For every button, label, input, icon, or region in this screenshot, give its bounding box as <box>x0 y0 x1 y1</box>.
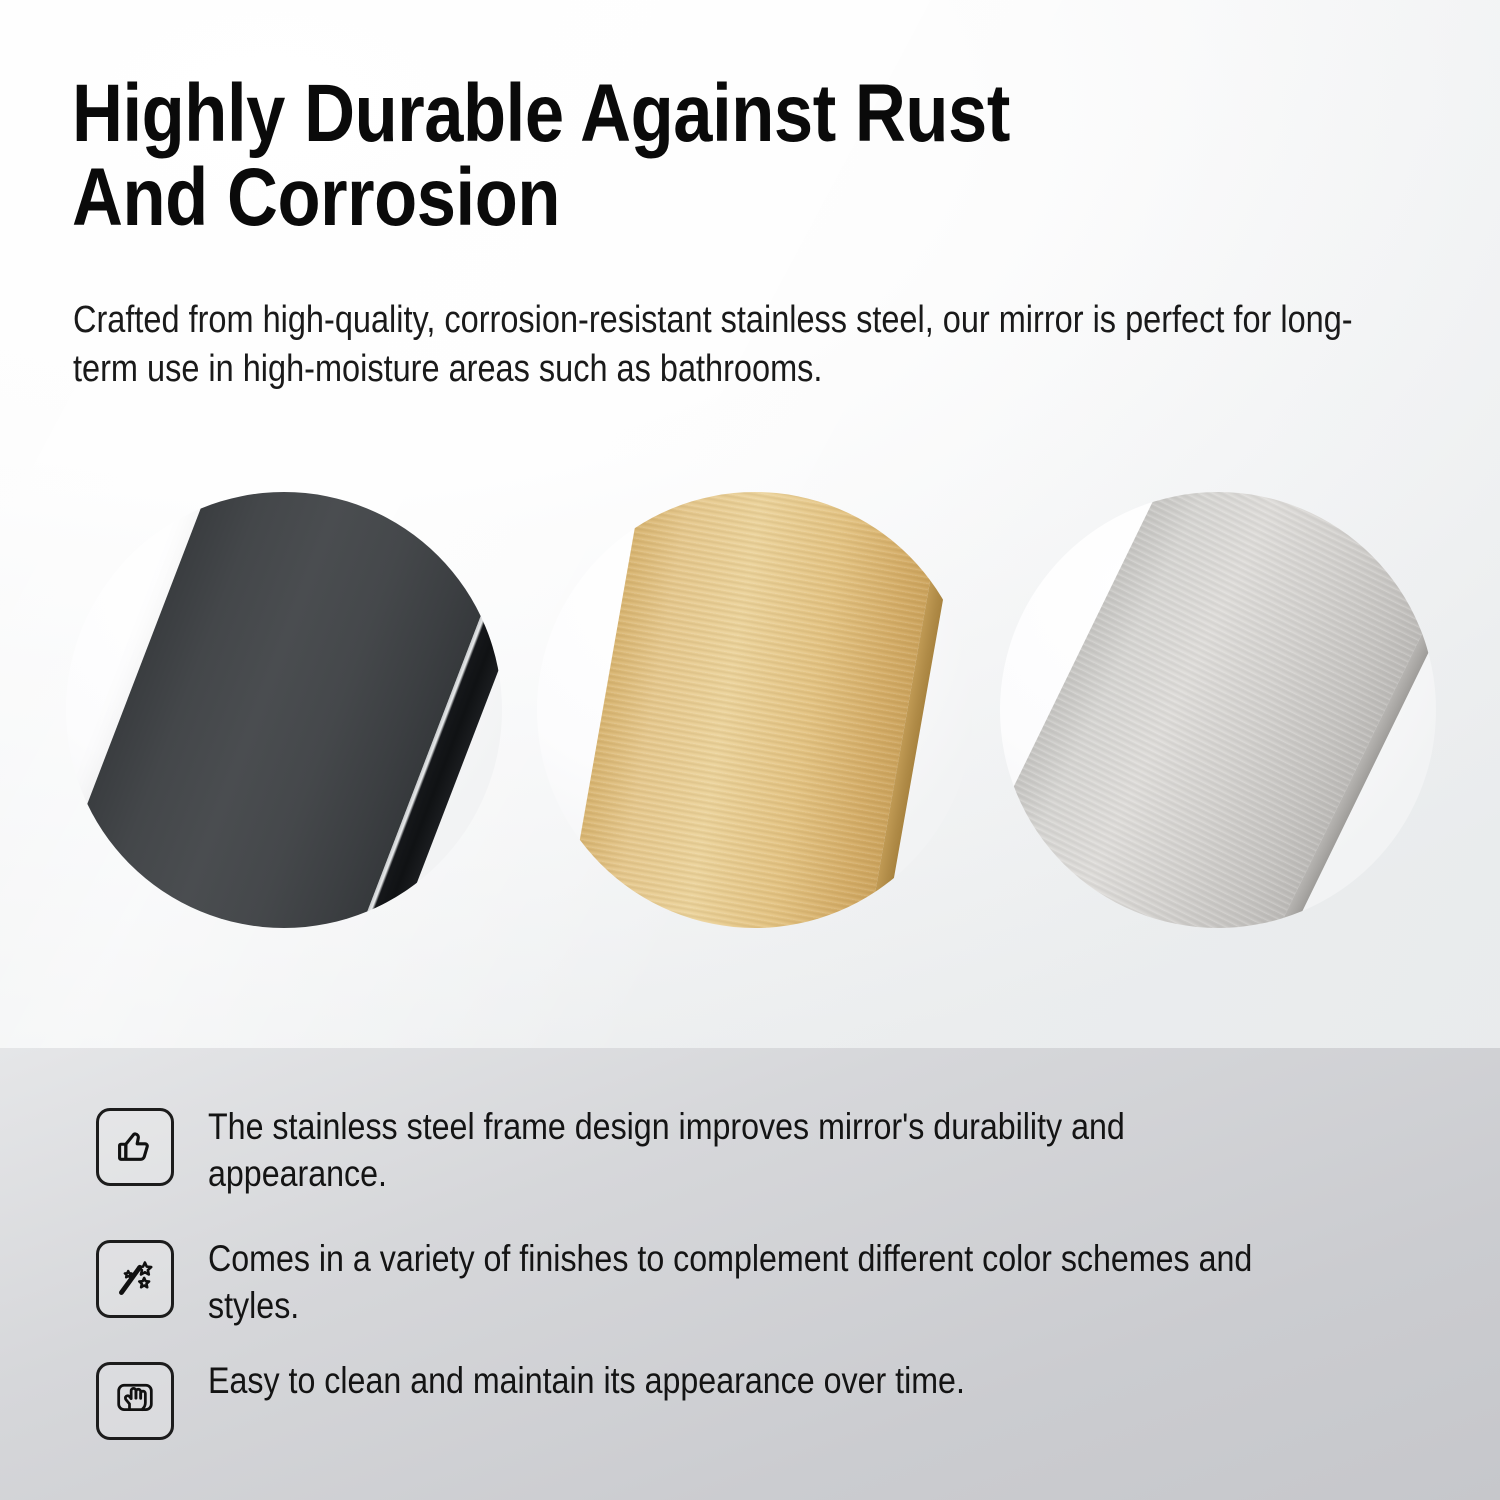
hero-description: Crafted from high-quality, corrosion-res… <box>73 296 1390 395</box>
gold-metal-band <box>541 492 968 928</box>
silver-metal-band <box>1000 492 1436 928</box>
feature-text: The stainless steel frame design improve… <box>208 1104 1294 1197</box>
thumbs-up-icon <box>96 1108 174 1186</box>
product-feature-page: Highly Durable Against Rust And Corrosio… <box>0 0 1500 1500</box>
finish-swatch-gold <box>537 492 973 928</box>
feature-list-section: The stainless steel frame design improve… <box>0 1048 1500 1500</box>
feature-text: Easy to clean and maintain its appearanc… <box>208 1358 1294 1405</box>
page-title: Highly Durable Against Rust And Corrosio… <box>72 72 1181 241</box>
cleaning-hand-icon <box>96 1362 174 1440</box>
feature-text: Comes in a variety of finishes to comple… <box>208 1236 1294 1329</box>
feature-item: Comes in a variety of finishes to comple… <box>96 1236 1456 1329</box>
finish-swatch-gallery <box>0 492 1500 940</box>
hero-section: Highly Durable Against Rust And Corrosio… <box>0 0 1500 1048</box>
finish-swatch-black <box>66 492 502 928</box>
black-metal-band <box>66 492 502 928</box>
feature-item: Easy to clean and maintain its appearanc… <box>96 1358 1456 1440</box>
magic-wand-icon <box>96 1240 174 1318</box>
finish-swatch-silver <box>1000 492 1436 928</box>
feature-item: The stainless steel frame design improve… <box>96 1104 1456 1197</box>
